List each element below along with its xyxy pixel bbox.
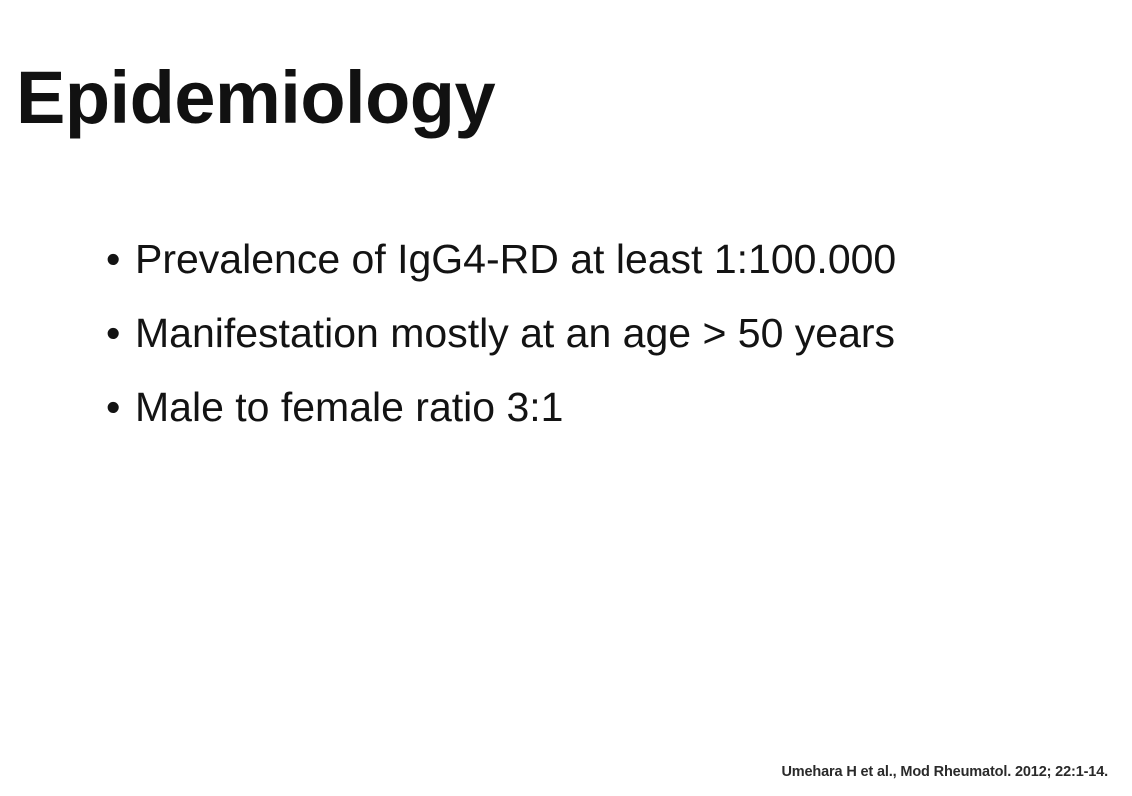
list-item: • Prevalence of IgG4-RD at least 1:100.0…: [104, 232, 896, 286]
bullet-list: • Prevalence of IgG4-RD at least 1:100.0…: [104, 232, 896, 434]
bullet-point-icon: •: [106, 306, 120, 360]
list-item: • Manifestation mostly at an age > 50 ye…: [104, 306, 896, 360]
citation-reference: Umehara H et al., Mod Rheumatol. 2012; 2…: [781, 764, 1108, 780]
presentation-slide: Epidemiology • Prevalence of IgG4-RD at …: [0, 0, 1132, 796]
page-title: Epidemiology: [16, 54, 495, 141]
bullet-point-icon: •: [106, 232, 120, 286]
list-item: • Male to female ratio 3:1: [104, 380, 896, 434]
list-item-label: Male to female ratio 3:1: [135, 384, 563, 430]
bullet-point-icon: •: [106, 380, 120, 434]
list-item-label: Prevalence of IgG4-RD at least 1:100.000: [135, 236, 896, 282]
list-item-label: Manifestation mostly at an age > 50 year…: [135, 310, 895, 356]
